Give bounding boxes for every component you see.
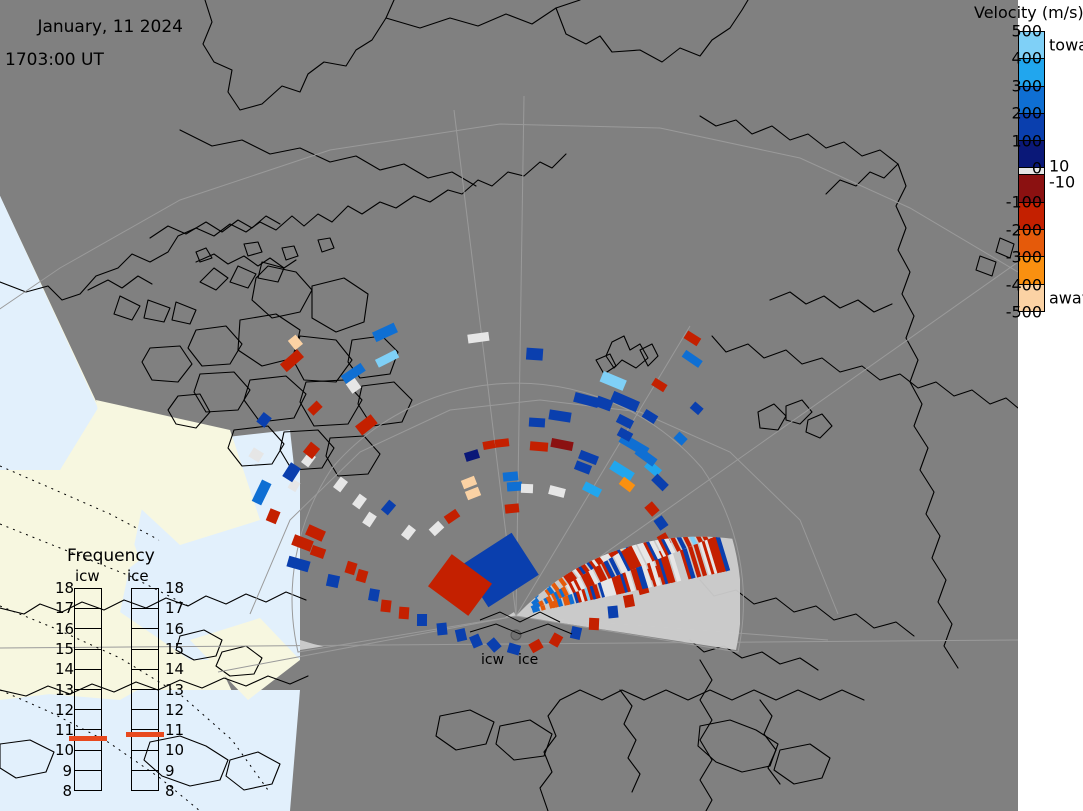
frequency-tick-left-15: 15 — [55, 640, 72, 658]
frequency-marker-icw — [69, 736, 107, 741]
frequency-tick-right-18: 18 — [165, 579, 184, 597]
frequency-tick-left-12: 12 — [55, 701, 72, 719]
frequency-tick-right-12: 12 — [165, 701, 184, 719]
frequency-tick-right-15: 15 — [165, 640, 184, 658]
velocity-tick--100: -100 — [1006, 193, 1042, 212]
superdarn-velocity-map-window: January, 11 2024 1703:00 UT icwice Frequ… — [0, 0, 1083, 811]
frequency-cell — [132, 690, 158, 710]
timestamp-overlay: January, 11 2024 1703:00 UT — [5, 2, 183, 104]
velocity-tick-200: 200 — [1011, 104, 1042, 123]
frequency-tick-right-11: 11 — [165, 721, 184, 739]
velocity-cell[interactable] — [521, 484, 533, 493]
velocity-tick-500: 500 — [1011, 22, 1042, 41]
velocity-tick--500: -500 — [1006, 303, 1042, 322]
velocity-tick--400: -400 — [1006, 275, 1042, 294]
frequency-cell — [75, 690, 101, 710]
radar-channel-icw: icw — [481, 652, 504, 668]
frequency-cell — [75, 670, 101, 690]
velocity-tick-400: 400 — [1011, 49, 1042, 68]
frequency-tick-right-14: 14 — [165, 660, 184, 678]
frequency-tick-right-10: 10 — [165, 741, 184, 759]
velocity-tick-100: 100 — [1011, 131, 1042, 150]
velocity-zero-lower-label: -10 — [1049, 173, 1075, 192]
velocity-cell[interactable] — [503, 471, 519, 481]
velocity-tick--300: -300 — [1006, 248, 1042, 267]
frequency-cell — [132, 650, 158, 670]
frequency-tick-left-14: 14 — [55, 660, 72, 678]
timestamp-time: 1703:00 UT — [5, 52, 183, 69]
frequency-tick-right-13: 13 — [165, 681, 184, 699]
velocity-cell[interactable] — [495, 438, 510, 448]
radar-channel-labels: icwice — [481, 652, 538, 668]
frequency-cell — [132, 710, 158, 730]
frequency-tick-left-17: 17 — [55, 599, 72, 617]
frequency-tick-left-18: 18 — [55, 579, 72, 597]
frequency-cell — [75, 710, 101, 730]
frequency-tick-left-9: 9 — [55, 762, 72, 780]
frequency-tick-right-17: 17 — [165, 599, 184, 617]
velocity-cell[interactable] — [505, 503, 520, 513]
velocity-cell[interactable] — [368, 588, 380, 602]
velocity-legend: Velocity (m/s) 5004003002001000-100-200-… — [960, 0, 1083, 330]
velocity-cell[interactable] — [436, 623, 447, 636]
frequency-tick-left-8: 8 — [55, 782, 72, 800]
frequency-cell — [75, 609, 101, 629]
velocity-cell[interactable] — [529, 417, 546, 427]
frequency-legend-title: Frequency — [67, 546, 155, 566]
frequency-cell — [132, 670, 158, 690]
frequency-cell — [132, 589, 158, 609]
velocity-cell[interactable] — [399, 607, 410, 620]
frequency-cell — [132, 629, 158, 649]
frequency-cell — [75, 771, 101, 790]
frequency-tick-left-13: 13 — [55, 681, 72, 699]
radar-channel-ice: ice — [518, 652, 538, 668]
frequency-cell — [75, 589, 101, 609]
velocity-cell[interactable] — [589, 618, 599, 630]
frequency-tick-left-11: 11 — [55, 721, 72, 739]
frequency-cell — [75, 650, 101, 670]
velocity-tick-300: 300 — [1011, 76, 1042, 95]
frequency-tick-right-8: 8 — [165, 782, 175, 800]
velocity-cell[interactable] — [326, 574, 340, 588]
velocity-cell[interactable] — [526, 348, 543, 361]
velocity-tick-0: 0 — [1032, 159, 1042, 178]
frequency-marker-ice — [126, 732, 164, 737]
velocity-legend-title: Velocity (m/s) — [974, 3, 1083, 22]
velocity-tick--200: -200 — [1006, 220, 1042, 239]
velocity-cell[interactable] — [417, 614, 427, 626]
frequency-column-label-ice: ice — [127, 567, 149, 585]
frequency-tick-right-16: 16 — [165, 620, 184, 638]
velocity-away-label: away — [1049, 289, 1083, 308]
frequency-legend: Frequency icw ice 1818171716161515141413… — [55, 546, 195, 796]
frequency-cell — [132, 751, 158, 771]
frequency-cell — [75, 751, 101, 771]
frequency-column-label-icw: icw — [75, 567, 100, 585]
velocity-toward-label: toward — [1049, 35, 1083, 54]
frequency-scale-ice — [131, 588, 159, 791]
velocity-cell[interactable] — [507, 482, 523, 492]
map-canvas[interactable]: January, 11 2024 1703:00 UT icwice Frequ… — [0, 0, 1018, 811]
velocity-cell[interactable] — [530, 441, 549, 451]
frequency-cell — [132, 771, 158, 790]
frequency-tick-right-9: 9 — [165, 762, 175, 780]
frequency-scale-icw — [74, 588, 102, 791]
velocity-cell[interactable] — [380, 599, 391, 612]
frequency-cell — [132, 609, 158, 629]
frequency-cell — [75, 629, 101, 649]
velocity-cell[interactable] — [607, 606, 618, 619]
frequency-tick-left-16: 16 — [55, 620, 72, 638]
frequency-tick-left-10: 10 — [55, 741, 72, 759]
timestamp-date: January, 11 2024 — [37, 17, 183, 37]
